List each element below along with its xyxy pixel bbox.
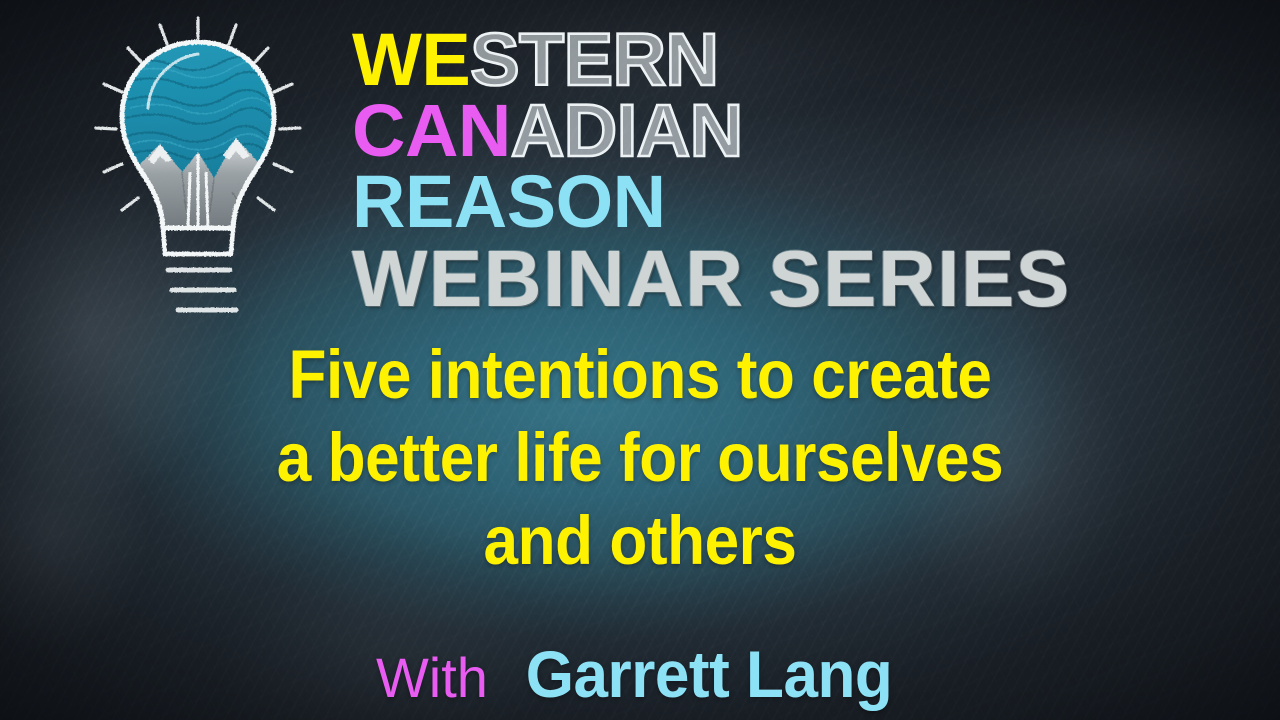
headline-line-2: a better life for ourselves: [64, 423, 1216, 492]
headline-line-1: Five intentions to create: [64, 340, 1216, 409]
wordmark-line-webinar-series: WEBINAR SERIES: [352, 241, 1212, 318]
wordmark-reason: REASON: [352, 160, 666, 243]
wordmark-line-western: WESTERN: [352, 24, 1212, 95]
presenter-with-label: With: [376, 646, 488, 709]
wordmark-line-canadian: CANADIAN: [352, 95, 1212, 166]
presenter-credit: WithGarrett Lang: [0, 636, 1280, 712]
slide-headline: Five intentions to create a better life …: [0, 340, 1280, 589]
wordmark-webinar-series: WEBINAR SERIES: [352, 234, 1071, 323]
bulb-base: [163, 228, 233, 254]
brand-wordmark: WESTERN CANADIAN REASON WEBINAR SERIES: [352, 24, 1212, 318]
wordmark-line-reason: REASON: [352, 166, 1212, 237]
bulb-interior-scene: [112, 32, 284, 232]
presenter-name: Garrett Lang: [526, 636, 893, 712]
lightbulb-mountain-chalk-logo: [82, 12, 314, 334]
bulb-thread-lines: [168, 270, 236, 310]
slide-stage: WESTERN CANADIAN REASON WEBINAR SERIES F…: [0, 0, 1280, 720]
headline-line-3: and others: [64, 506, 1216, 575]
